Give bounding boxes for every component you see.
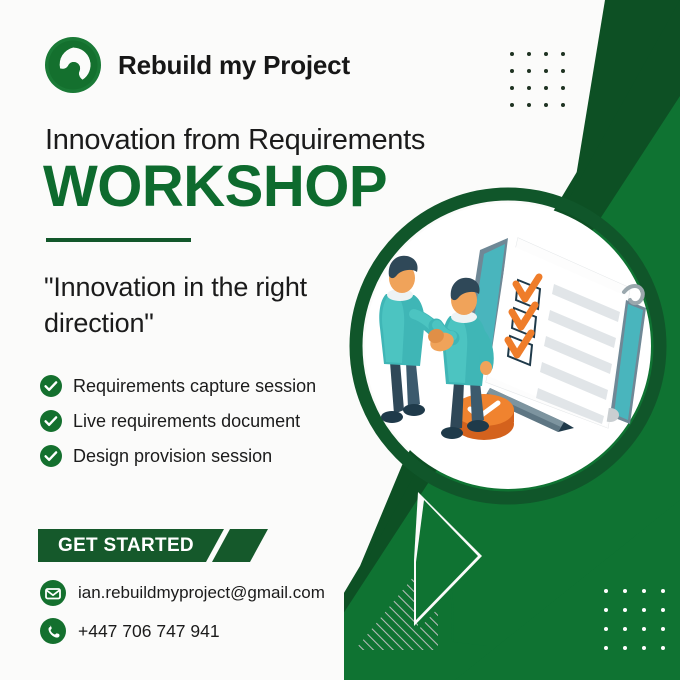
- dot: [661, 627, 665, 631]
- dot: [527, 86, 531, 90]
- dot-grid-bottom: [604, 589, 665, 650]
- dot: [661, 608, 665, 612]
- dot-grid-top: [510, 52, 565, 107]
- dot: [510, 103, 514, 107]
- phone-text: +447 706 747 941: [78, 621, 220, 642]
- dot: [661, 589, 665, 593]
- phone-icon: [40, 618, 66, 644]
- dot: [527, 69, 531, 73]
- dot: [642, 589, 646, 593]
- dot: [661, 646, 665, 650]
- contact-email[interactable]: ian.rebuildmyproject@gmail.com: [40, 580, 325, 606]
- dot: [604, 646, 608, 650]
- dot: [544, 52, 548, 56]
- rebuild-wrench-circle-logo-icon: [44, 36, 102, 94]
- title-divider: [46, 238, 191, 242]
- dot: [623, 627, 627, 631]
- dot: [604, 608, 608, 612]
- check-circle-icon: [40, 410, 62, 432]
- dot: [527, 103, 531, 107]
- page-title: WORKSHOP: [43, 158, 387, 216]
- email-text: ian.rebuildmyproject@gmail.com: [78, 583, 325, 603]
- feature-label: Requirements capture session: [73, 376, 316, 397]
- feature-label: Design provision session: [73, 446, 272, 467]
- tagline-quote: "Innovation in the right direction": [44, 270, 364, 341]
- dot: [623, 589, 627, 593]
- dot: [510, 52, 514, 56]
- dot: [510, 86, 514, 90]
- dot: [527, 52, 531, 56]
- brand-name: Rebuild my Project: [118, 50, 350, 81]
- dot: [544, 103, 548, 107]
- check-circle-icon: [40, 445, 62, 467]
- handshake-checklist-illustration: [358, 196, 658, 496]
- list-item: Design provision session: [40, 445, 316, 467]
- headline-eyebrow: Innovation from Requirements: [45, 124, 425, 157]
- contact-list: ian.rebuildmyproject@gmail.com +447 706 …: [40, 580, 325, 644]
- feature-label: Live requirements document: [73, 411, 300, 432]
- list-item: Requirements capture session: [40, 375, 316, 397]
- dot: [544, 69, 548, 73]
- dot: [604, 627, 608, 631]
- dot: [623, 646, 627, 650]
- dot: [642, 608, 646, 612]
- brand-header: Rebuild my Project: [44, 36, 350, 94]
- dot: [510, 69, 514, 73]
- poster-canvas: Rebuild my Project Innovation from Requi…: [0, 0, 680, 680]
- dot: [561, 69, 565, 73]
- envelope-icon: [40, 580, 66, 606]
- dot: [642, 646, 646, 650]
- dot: [561, 86, 565, 90]
- dot: [561, 52, 565, 56]
- dot: [604, 589, 608, 593]
- dot: [642, 627, 646, 631]
- dot: [623, 608, 627, 612]
- get-started-label: GET STARTED: [58, 529, 194, 562]
- feature-list: Requirements capture session Live requir…: [40, 375, 316, 467]
- list-item: Live requirements document: [40, 410, 316, 432]
- dot: [561, 103, 565, 107]
- get-started-button[interactable]: GET STARTED: [38, 529, 268, 562]
- check-circle-icon: [40, 375, 62, 397]
- dot: [544, 86, 548, 90]
- contact-phone[interactable]: +447 706 747 941: [40, 618, 325, 644]
